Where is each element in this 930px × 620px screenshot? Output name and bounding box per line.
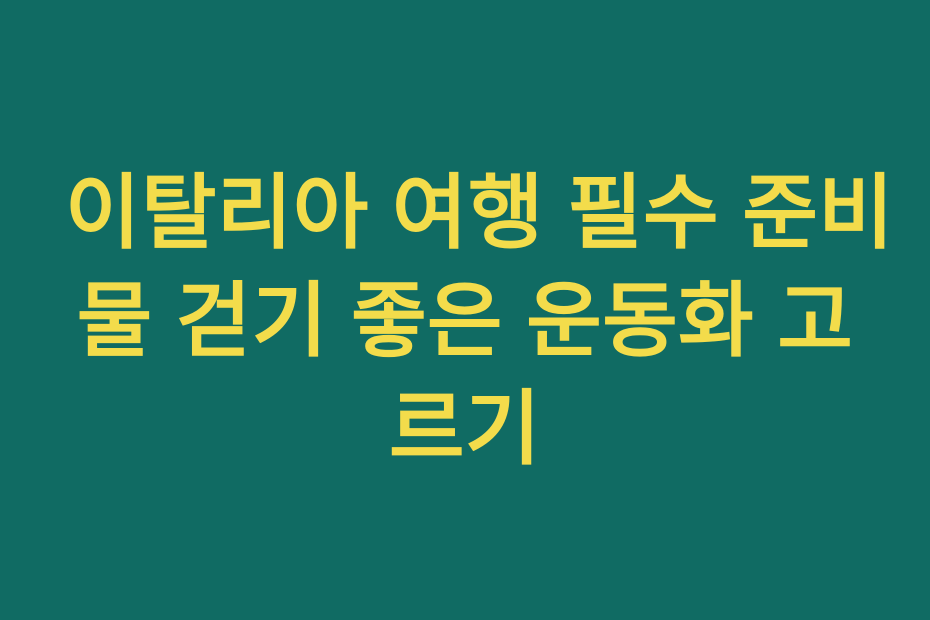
headline-line-1: 이탈리아 여행 필수 준비 xyxy=(65,160,865,268)
title-card: 이탈리아 여행 필수 준비 물 걷기 좋은 운동화 고 르기 xyxy=(0,0,930,620)
headline-line-2: 물 걷기 좋은 운동화 고 xyxy=(65,268,865,376)
headline-line-3: 르기 xyxy=(65,376,865,484)
headline-block: 이탈리아 여행 필수 준비 물 걷기 좋은 운동화 고 르기 xyxy=(65,160,865,484)
